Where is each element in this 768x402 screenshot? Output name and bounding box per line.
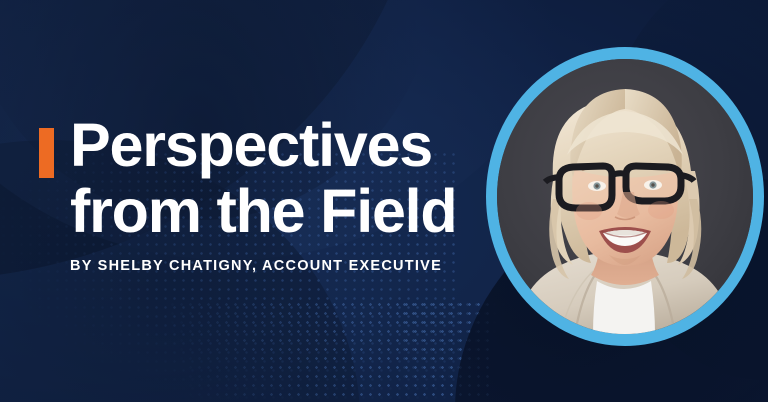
headline-line-2: from the Field <box>39 178 469 244</box>
title-block: Perspectives from the Field BY SHELBY CH… <box>39 112 469 274</box>
headline-row: Perspectives <box>39 112 469 178</box>
orange-accent-bar <box>39 128 54 178</box>
portrait-ring <box>486 47 764 346</box>
avatar <box>497 59 753 334</box>
perspectives-banner: Perspectives from the Field BY SHELBY CH… <box>0 0 768 402</box>
author-byline: BY SHELBY CHATIGNY, ACCOUNT EXECUTIVE <box>39 258 469 274</box>
portrait-photo <box>497 59 753 334</box>
headline-line-1: Perspectives <box>39 112 469 178</box>
